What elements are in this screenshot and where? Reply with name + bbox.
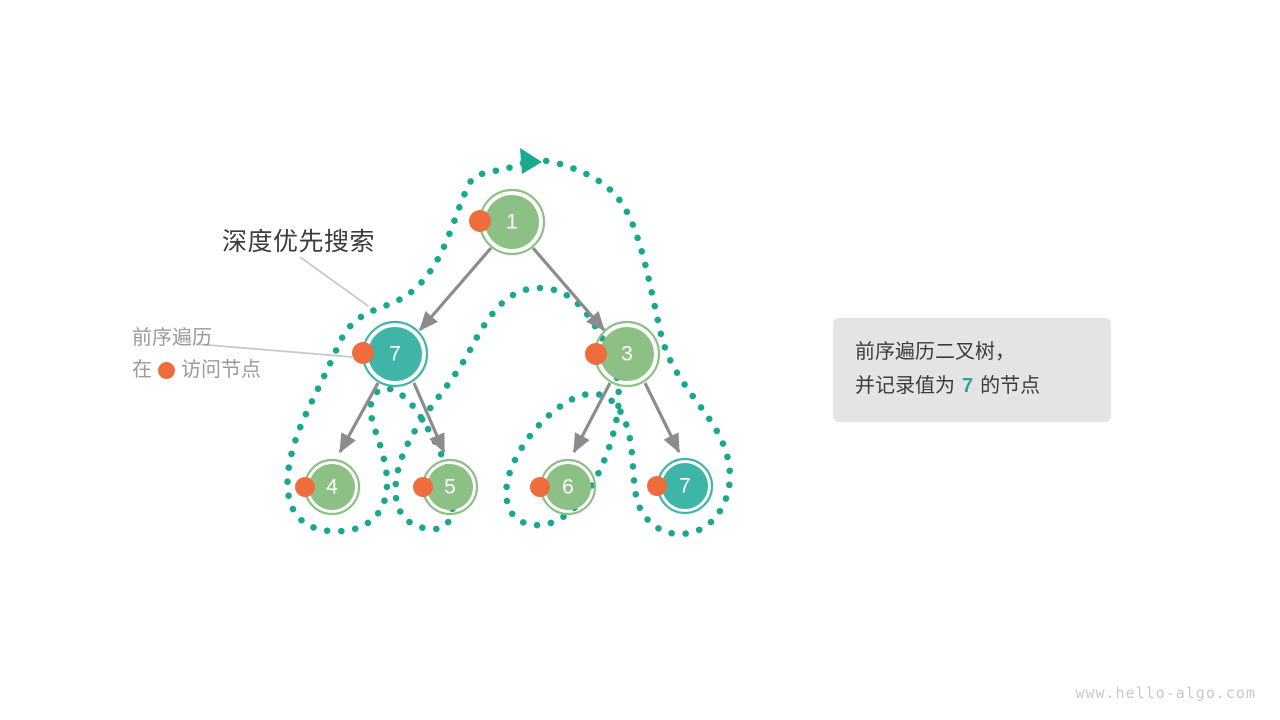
heading-leader-line — [300, 257, 368, 306]
visit-dot-icon — [585, 343, 607, 365]
edge-n1-n2 — [420, 248, 491, 330]
visit-dot-icon — [530, 477, 550, 497]
edge-n3-n6 — [574, 383, 610, 452]
info-box-line-1: 前序遍历二叉树， — [855, 335, 1089, 369]
visit-dot-icon — [295, 477, 315, 497]
visit-dot-icon — [647, 476, 667, 496]
visit-dot-icon — [469, 210, 491, 232]
watermark: www.hello-algo.com — [1075, 684, 1256, 702]
node-value: 7 — [679, 475, 691, 498]
visit-dot-icon — [352, 342, 374, 364]
page-title: 深度优先搜索 — [222, 222, 375, 258]
info-box-line-2: 并记录值为7的节点 — [855, 369, 1089, 403]
annotation-text-at: 在 — [132, 354, 152, 386]
info-box-highlight-value: 7 — [955, 375, 980, 397]
info-box-line-2-suffix: 的节点 — [980, 375, 1040, 397]
node-value: 7 — [389, 343, 401, 366]
annotation-line-2: 在 访问节点 — [132, 354, 261, 386]
edge-n3-n7 — [645, 383, 679, 452]
diagram-canvas: 1 7 3 4 5 — [0, 0, 1280, 720]
annotation-line-1: 前序遍历 — [132, 322, 261, 354]
annotation-text-visit-node: 访问节点 — [181, 354, 261, 386]
annotation-block: 前序遍历 在 访问节点 — [132, 322, 261, 386]
orange-dot-icon — [158, 362, 175, 379]
node-value: 1 — [506, 211, 518, 234]
dfs-start-arrow-icon — [520, 148, 542, 174]
info-box-line-2-prefix: 并记录值为 — [855, 375, 955, 397]
node-value: 6 — [562, 476, 574, 499]
node-value: 3 — [621, 343, 633, 366]
annotation-text-preorder: 前序遍历 — [132, 322, 212, 354]
info-box: 前序遍历二叉树， 并记录值为7的节点 — [833, 318, 1111, 422]
node-value: 5 — [444, 476, 456, 499]
visit-dot-icon — [413, 477, 433, 497]
node-value: 4 — [326, 476, 338, 499]
